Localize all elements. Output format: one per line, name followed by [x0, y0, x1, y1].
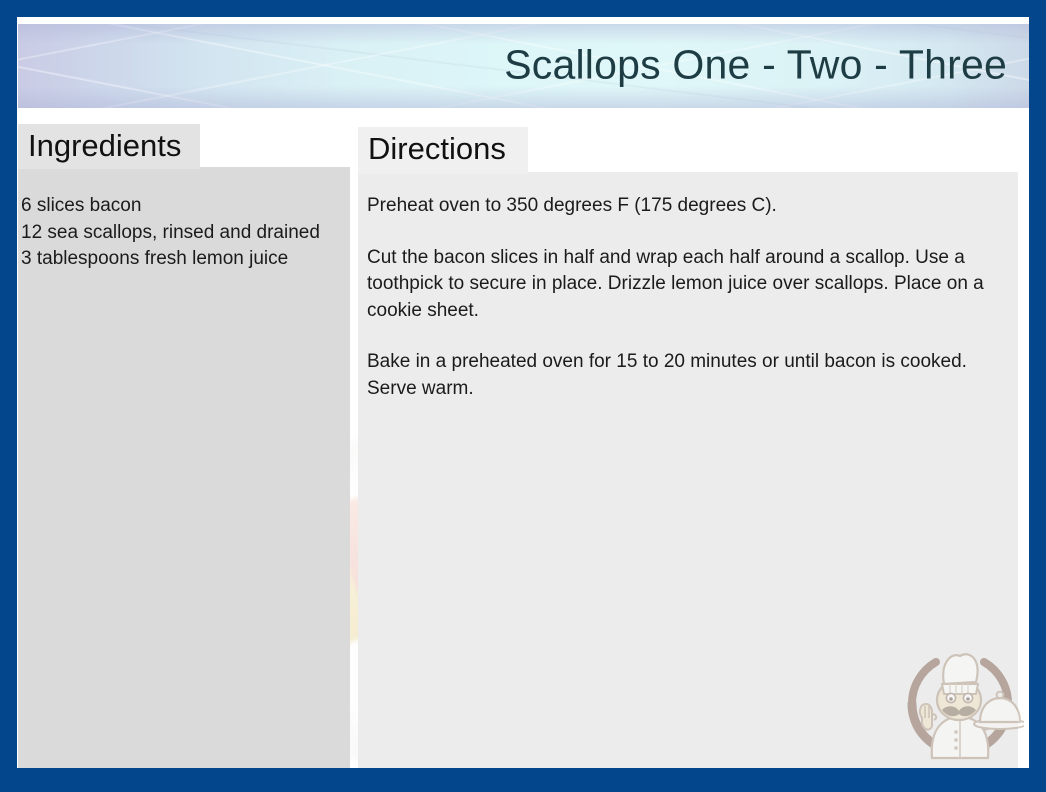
slide-border-right: [1029, 0, 1046, 792]
ingredients-heading: Ingredients: [28, 128, 181, 164]
directions-step: Cut the bacon slices in half and wrap ea…: [367, 245, 1012, 325]
directions-heading: Directions: [368, 131, 506, 167]
banner-bottom-shade: [18, 86, 1029, 108]
slide-border-left: [0, 0, 17, 792]
directions-steps: Preheat oven to 350 degrees F (175 degre…: [367, 193, 1012, 402]
slide-border-bottom: [0, 768, 1046, 792]
page-title: Scallops One - Two - Three: [504, 44, 1007, 87]
slide-border-top: [0, 0, 1046, 17]
ingredients-list: 6 slices bacon 12 sea scallops, rinsed a…: [21, 193, 343, 273]
directions-step: Bake in a preheated oven for 15 to 20 mi…: [367, 349, 1012, 402]
directions-step: Preheat oven to 350 degrees F (175 degre…: [367, 193, 1012, 220]
slide-header-banner: Scallops One - Two - Three: [18, 24, 1029, 108]
recipe-slide: Scallops One - Two - Three Ingredients 6…: [0, 0, 1046, 792]
